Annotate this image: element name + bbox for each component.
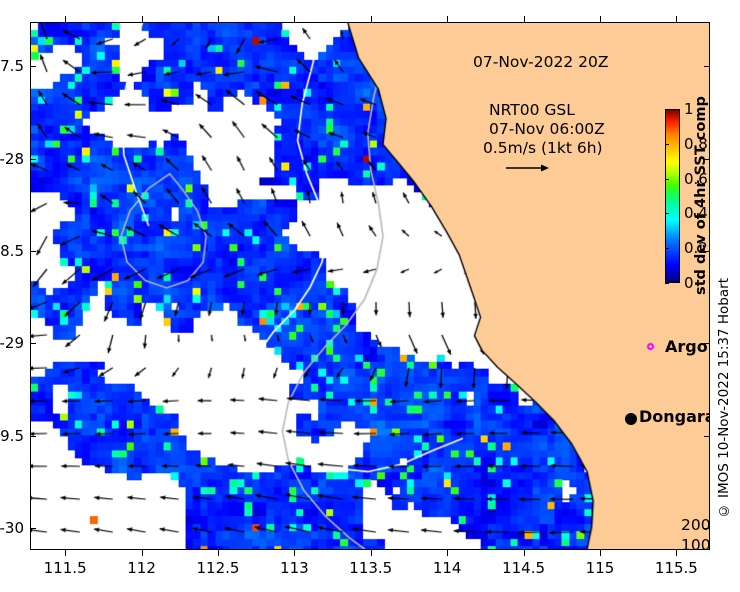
velocity-scale-arrow-icon xyxy=(505,163,549,173)
colorbar-tick-5 xyxy=(665,283,669,284)
source-model-label: NRT00 GSL xyxy=(489,101,575,119)
y-axis-label-2: -28.5 xyxy=(0,242,24,260)
colorbar-tick-0 xyxy=(665,109,669,110)
credit-label: © IMOS 10-Nov-2022 15:37 Hobart xyxy=(716,278,732,518)
x-tick-bottom-8 xyxy=(676,550,677,556)
colorbar-title: std dev of 4hr SST comp xyxy=(691,103,710,289)
colorbar-tick-label-4: 0.2 xyxy=(684,239,708,257)
y-tick-left-3 xyxy=(30,343,36,344)
x-tick-bottom-0 xyxy=(65,550,66,556)
x-tick-top-5 xyxy=(447,16,448,22)
x-tick-top-2 xyxy=(218,16,219,22)
x-axis-label-4: 113.5 xyxy=(349,559,392,577)
dongara-marker-icon[interactable] xyxy=(625,413,637,425)
y-tick-right-5 xyxy=(704,528,710,529)
colorbar-gradient xyxy=(665,109,680,283)
colorbar-tick-label-2: 0.6 xyxy=(684,170,708,188)
x-axis-label-3: 113 xyxy=(280,559,309,577)
x-tick-bottom-3 xyxy=(294,550,295,556)
x-tick-bottom-4 xyxy=(371,550,372,556)
dongara-label: Dongara xyxy=(639,407,710,426)
x-tick-bottom-7 xyxy=(600,550,601,556)
x-tick-top-4 xyxy=(371,16,372,22)
x-tick-bottom-6 xyxy=(524,550,525,556)
x-tick-top-3 xyxy=(294,16,295,22)
argo-marker-icon[interactable] xyxy=(647,343,654,350)
colorbar-tick-label-5: 0 xyxy=(684,274,694,292)
x-tick-top-6 xyxy=(524,16,525,22)
timestamp-label: 07-Nov-2022 20Z xyxy=(473,53,608,71)
y-axis-label-3: -29 xyxy=(0,334,24,352)
x-tick-top-7 xyxy=(600,16,601,22)
y-tick-right-2 xyxy=(704,251,710,252)
x-tick-top-1 xyxy=(142,16,143,22)
colorbar-tick-3 xyxy=(665,213,669,214)
x-axis-label-0: 111.5 xyxy=(44,559,87,577)
colorbar-tick-4 xyxy=(665,248,669,249)
y-axis-label-5: -30 xyxy=(0,519,24,537)
y-tick-left-0 xyxy=(30,66,36,67)
y-tick-right-0 xyxy=(704,66,710,67)
y-tick-left-2 xyxy=(30,251,36,252)
sst-map-figure: 07-Nov-2022 20Z NRT00 GSL 07-Nov 06:00Z … xyxy=(0,0,740,592)
x-tick-top-8 xyxy=(676,16,677,22)
x-axis-label-5: 114 xyxy=(433,559,462,577)
y-tick-left-5 xyxy=(30,528,36,529)
colorbar-tick-1 xyxy=(665,144,669,145)
velocity-scale-label: 0.5m/s (1kt 6h) xyxy=(483,139,603,157)
x-axis-label-7: 115 xyxy=(586,559,615,577)
x-tick-bottom-2 xyxy=(218,550,219,556)
sst-std-dev-heatmap-canvas[interactable] xyxy=(31,23,709,549)
x-tick-top-0 xyxy=(65,16,66,22)
colorbar-tick-label-3: 0.4 xyxy=(684,204,708,222)
map-plot-area[interactable]: 07-Nov-2022 20Z NRT00 GSL 07-Nov 06:00Z … xyxy=(30,22,710,550)
y-tick-left-4 xyxy=(30,436,36,437)
y-tick-right-3 xyxy=(704,343,710,344)
colorbar-tick-2 xyxy=(665,179,669,180)
y-tick-right-4 xyxy=(704,436,710,437)
x-tick-bottom-5 xyxy=(447,550,448,556)
y-tick-left-1 xyxy=(30,159,36,160)
colorbar-tick-label-1: 0.8 xyxy=(684,135,708,153)
y-axis-label-4: -29.5 xyxy=(0,427,24,445)
source-time-label: 07-Nov 06:00Z xyxy=(489,120,605,138)
x-tick-bottom-1 xyxy=(142,550,143,556)
x-axis-label-2: 112.5 xyxy=(196,559,239,577)
y-tick-right-1 xyxy=(704,159,710,160)
x-axis-label-8: 115.5 xyxy=(655,559,698,577)
argo-label: Argo xyxy=(665,337,708,356)
y-axis-label-1: -28 xyxy=(0,150,24,168)
colorbar-tick-label-0: 1 xyxy=(684,100,694,118)
x-axis-label-1: 112 xyxy=(127,559,156,577)
bathymetry-200m-label: 200m xyxy=(681,516,710,534)
y-axis-label-0: -27.5 xyxy=(0,57,24,75)
x-axis-label-6: 114.5 xyxy=(502,559,545,577)
bathymetry-1000m-label: 1000m xyxy=(681,536,710,550)
